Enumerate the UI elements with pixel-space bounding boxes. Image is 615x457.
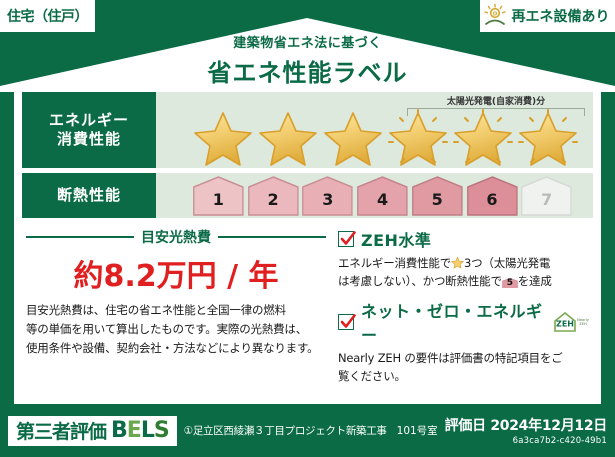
insulation-level-number: 7: [520, 190, 573, 209]
bels-evaluation-date-label: 評価日: [445, 418, 486, 434]
bels-chip: 第三者評価 BELS: [8, 416, 177, 446]
star-filled: [192, 109, 254, 167]
zeh-standard-desc-line1a: エネルギー消費性能で: [338, 256, 451, 270]
zeh-standard-title: ZEH水準: [361, 227, 431, 251]
cost-note-line2: 等の単価を用いて算出したものです。実際の光熱費は、: [26, 320, 326, 339]
renewable-energy-tag-label: 再エネ設備あり: [512, 6, 610, 26]
zeh-standard-desc-line2a: は考慮しない）、かつ断熱性能で: [338, 274, 502, 288]
zeh-netzero-title: ネット・ゼロ・エネルギー: [361, 298, 544, 346]
label-title-main: 省エネ性能ラベル: [0, 53, 615, 88]
energy-performance-label: 住宅（住戸） D 再エネ設備あり 建築物省エネ法に基づく 省エネ性能ラベル エネ…: [0, 0, 615, 457]
solar-bracket-label: 太陽光発電(自家消費)分: [407, 94, 585, 107]
zeh-standard-block: ZEH水準 エネルギー消費性能で3つ（太陽光発電 は考慮しない）、かつ断熱性能で…: [338, 227, 591, 291]
insulation-level-number: 1: [192, 190, 245, 209]
insulation-level-house: 2: [247, 176, 300, 216]
insulation-level-scale: 1 2 3 4 5: [156, 173, 593, 218]
insulation-level-number: 3: [301, 190, 354, 209]
star-filled: [257, 109, 319, 167]
cost-heading-rule-right: [218, 236, 326, 238]
check-icon: [339, 313, 357, 331]
energy-star-rating: [192, 109, 587, 167]
energy-performance-body: 太陽光発電(自家消費)分: [156, 92, 593, 168]
check-icon: [339, 230, 357, 248]
inline-house-number: 5: [502, 275, 518, 290]
star-filled-solar: [517, 109, 579, 167]
building-type-tag-label: 住宅（住戸）: [7, 6, 88, 26]
energy-performance-label: エネルギー 消費性能: [22, 92, 156, 168]
insulation-level-house: 4: [356, 176, 409, 216]
bels-brand: BELS: [111, 418, 169, 443]
insulation-performance-body: 1 2 3 4 5: [156, 173, 593, 218]
cost-section: 目安光熱費 約8.2万円 / 年 目安光熱費は、住宅の省エネ性能と全国一律の燃料…: [22, 223, 332, 393]
insulation-level-house: 1: [192, 176, 245, 216]
cost-heading-rule-left: [26, 236, 134, 238]
zeh-standard-title-row: ZEH水準: [338, 227, 591, 251]
bels-third-party-label: 第三者評価: [16, 417, 106, 444]
zeh-netzero-checkbox[interactable]: [338, 314, 354, 330]
bels-evaluation-info: 評価日 2024年12月12日 6a3ca7b2-c420-49b1: [445, 415, 607, 446]
bels-evaluation-date: 評価日 2024年12月12日: [445, 415, 607, 435]
star-filled-solar: [452, 109, 514, 167]
label-title-sub: 建築物省エネ法に基づく: [0, 32, 615, 51]
zeh-netzero-title-row: ネット・ゼロ・エネルギー ZEH Nearly ZEH: [338, 298, 591, 346]
insulation-performance-row: 断熱性能 1 2 3: [22, 173, 593, 218]
insulation-performance-label: 断熱性能: [22, 173, 156, 218]
bels-project-name: ①足立区西綾瀬３丁目プロジェクト新築工事: [184, 423, 387, 438]
cost-note-line3: 使用条件や設備、契約会社・方法などにより異なります。: [26, 339, 326, 358]
insulation-level-house-inactive: 7: [520, 176, 573, 216]
sun-renewable-icon: D: [482, 3, 508, 29]
renewable-energy-tag: D 再エネ設備あり: [480, 0, 615, 32]
energy-performance-label-line2: 消費性能: [57, 130, 121, 149]
bels-id: 6a3ca7b2-c420-49b1: [445, 436, 607, 446]
insulation-level-number: 4: [356, 190, 409, 209]
insulation-level-number: 2: [247, 190, 300, 209]
zeh-netzero-desc: Nearly ZEH の要件は評価書の特記項目をご 覧ください。: [338, 349, 591, 386]
bels-room-number: 101号室: [397, 423, 438, 438]
inline-star-icon: [451, 256, 464, 269]
energy-performance-row: エネルギー 消費性能 太陽光発電(自家消費)分: [22, 92, 593, 168]
bels-bar: 第三者評価 BELS ①足立区西綾瀬３丁目プロジェクト新築工事 101号室 評価…: [0, 404, 615, 457]
cost-heading: 目安光熱費: [26, 227, 326, 247]
zeh-standard-checkbox[interactable]: [338, 231, 354, 247]
insulation-level-house: 6: [466, 176, 519, 216]
svg-text:ZEH: ZEH: [556, 319, 574, 328]
zeh-logo-icon: ZEH Nearly ZEH: [551, 310, 591, 334]
zeh-standard-desc: エネルギー消費性能で3つ（太陽光発電 は考慮しない）、かつ断熱性能で5を達成: [338, 254, 591, 291]
insulation-level-house: 5: [411, 176, 464, 216]
zeh-netzero-desc-line2: 覧ください。: [338, 367, 591, 385]
cost-heading-text: 目安光熱費: [141, 227, 211, 247]
insulation-level-number: 5: [411, 190, 464, 209]
zeh-netzero-desc-line1: Nearly ZEH の要件は評価書の特記項目をご: [338, 349, 591, 367]
zeh-netzero-block: ネット・ゼロ・エネルギー ZEH Nearly ZEH Nearly ZEH の…: [338, 298, 591, 386]
insulation-performance-label-text: 断熱性能: [57, 186, 121, 205]
insulation-level-house: 3: [301, 176, 354, 216]
inline-house-badge: 5: [502, 275, 518, 290]
energy-performance-label-line1: エネルギー: [49, 111, 129, 130]
svg-text:ZEH: ZEH: [579, 322, 587, 326]
zeh-standard-desc-line2b: を達成: [518, 274, 552, 288]
insulation-level-number: 6: [466, 190, 519, 209]
building-type-tag: 住宅（住戸）: [0, 0, 95, 32]
label-title-block: 建築物省エネ法に基づく 省エネ性能ラベル: [0, 32, 615, 88]
label-card: エネルギー 消費性能 太陽光発電(自家消費)分: [14, 86, 601, 404]
zeh-standard-desc-line1b: 3つ（太陽光発電: [464, 256, 550, 270]
bels-evaluation-date-value: 2024年12月12日: [490, 418, 607, 434]
star-filled-solar: [387, 109, 449, 167]
svg-text:D: D: [492, 12, 497, 18]
star-filled: [322, 109, 384, 167]
cost-note-line1: 目安光熱費は、住宅の省エネ性能と全国一律の燃料: [26, 301, 326, 320]
cost-value: 約8.2万円 / 年: [26, 251, 326, 295]
lower-section: 目安光熱費 約8.2万円 / 年 目安光熱費は、住宅の省エネ性能と全国一律の燃料…: [22, 223, 593, 393]
zeh-section: ZEH水準 エネルギー消費性能で3つ（太陽光発電 は考慮しない）、かつ断熱性能で…: [332, 223, 593, 393]
cost-note: 目安光熱費は、住宅の省エネ性能と全国一律の燃料 等の単価を用いて算出したものです…: [26, 301, 326, 358]
